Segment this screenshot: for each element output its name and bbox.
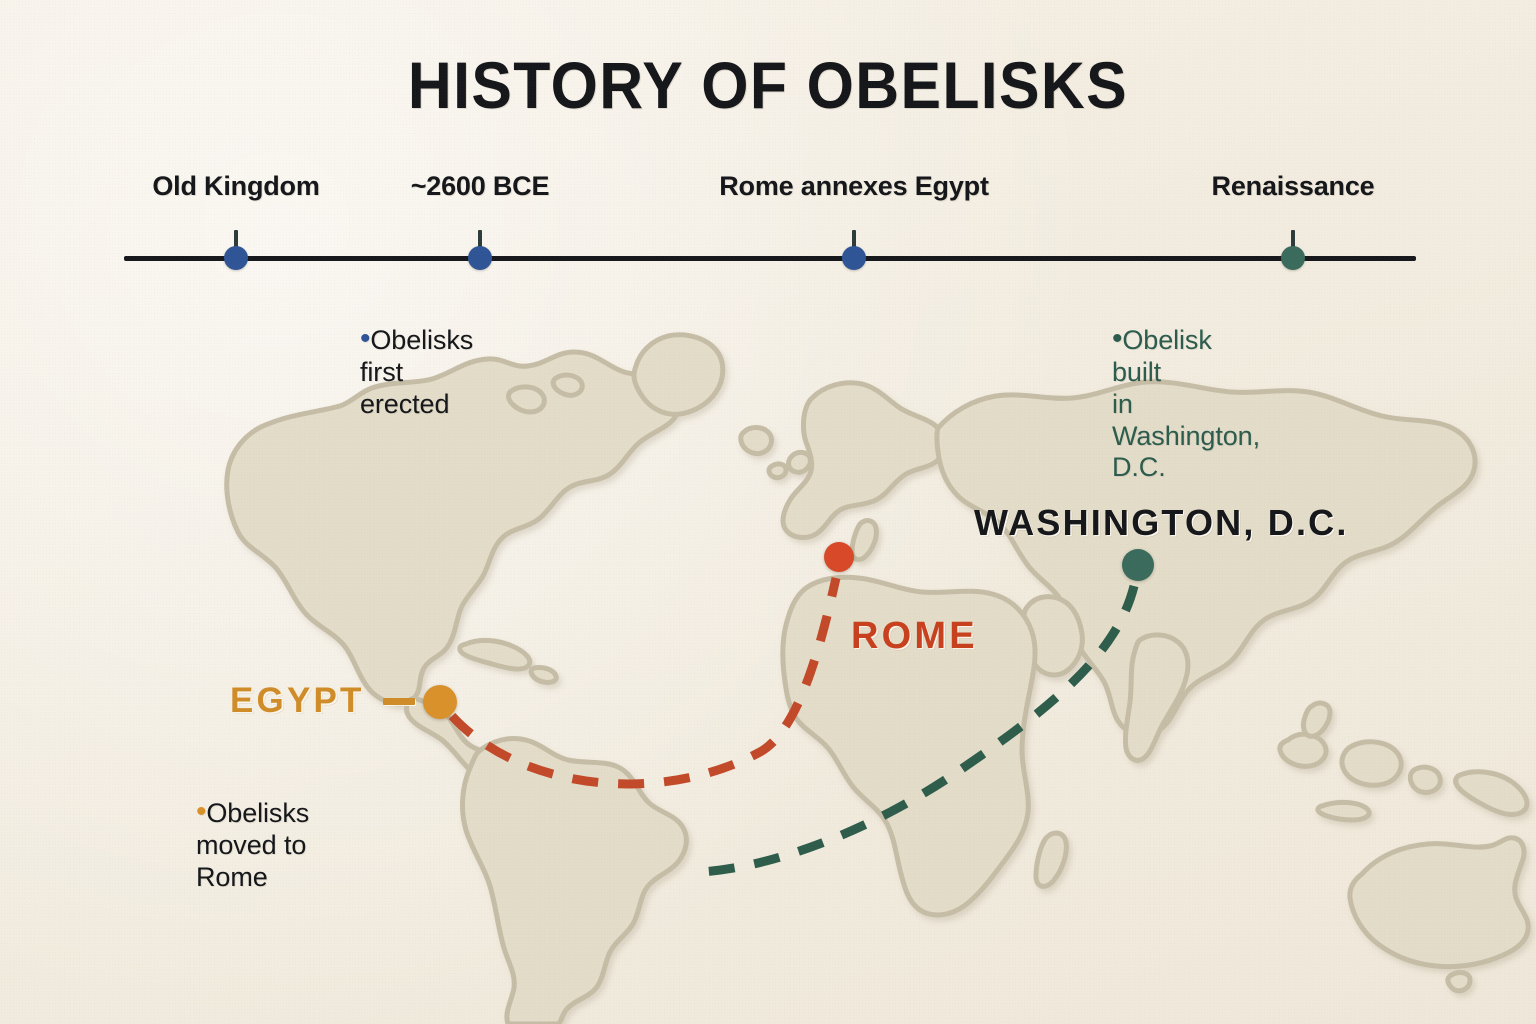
egypt-leader-line — [383, 698, 415, 705]
timeline-dot-old-kingdom[interactable] — [224, 246, 248, 270]
timeline-label-2600-bce: ~2600 BCE — [411, 171, 550, 202]
route-egypt-to-rome — [452, 578, 836, 784]
bullet-icon: • — [360, 322, 370, 355]
map-label-washington: WASHINGTON, D.C. — [974, 502, 1349, 544]
timeline-label-old-kingdom: Old Kingdom — [152, 171, 319, 202]
page-title: HISTORY OF OBELISKS — [61, 52, 1474, 118]
map-note-text: Obelisks moved to Rome — [196, 798, 309, 892]
map-dot-washington[interactable] — [1122, 549, 1154, 581]
map-label-rome: ROME — [851, 615, 978, 658]
map-label-egypt: EGYPT — [230, 681, 365, 721]
timeline-dot-rome-annexes-egypt[interactable] — [842, 246, 866, 270]
bullet-icon: • — [1112, 322, 1122, 355]
timeline-label-renaissance: Renaissance — [1212, 171, 1375, 202]
timeline-note-text: Obelisk built in Washington, D.C. — [1112, 325, 1260, 482]
timeline-label-rome-annexes-egypt: Rome annexes Egypt — [719, 171, 989, 202]
timeline-note-text: Obelisks first erected — [360, 325, 473, 419]
bullet-icon: • — [196, 795, 206, 828]
timeline-dot-renaissance[interactable] — [1281, 246, 1305, 270]
timeline-note-obelisk-built-washington: •Obelisk built in Washington, D.C. — [1112, 292, 1260, 484]
map-dot-egypt[interactable] — [423, 685, 457, 719]
infographic-canvas: HISTORY OF OBELISKS Old Kingdom ~2600 BC… — [0, 0, 1536, 1024]
timeline-axis — [124, 256, 1416, 261]
timeline-dot-2600-bce[interactable] — [468, 246, 492, 270]
map-dot-rome[interactable] — [824, 542, 854, 572]
map-note-obelisks-moved-to-rome: •Obelisks moved to Rome — [196, 765, 309, 894]
timeline-note-obelisks-first-erected: •Obelisks first erected — [360, 292, 473, 421]
